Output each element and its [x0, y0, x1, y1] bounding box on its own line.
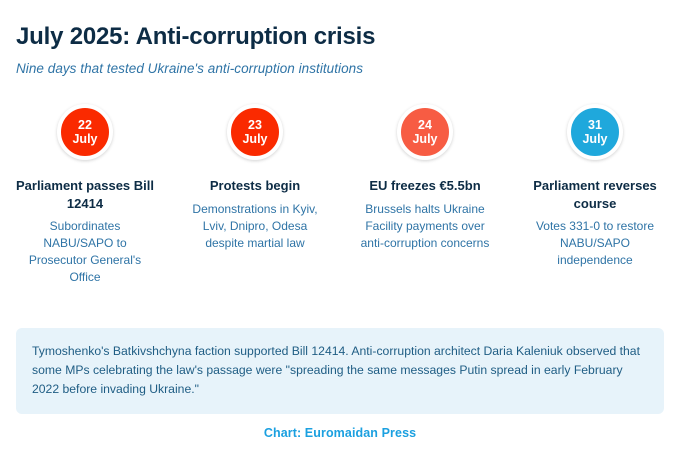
caption-title: Parliament passes Bill 12414 — [14, 177, 156, 211]
node-day: 24 — [418, 119, 432, 132]
timeline-caption-3: Parliament reverses course Votes 331-0 t… — [510, 177, 680, 285]
note-text: Tymoshenko's Batkivshchyna faction suppo… — [32, 342, 648, 399]
chart-header: July 2025: Anti-corruption crisis Nine d… — [0, 0, 680, 76]
caption-description: Subordinates NABU/SAPO to Prosecutor Gen… — [14, 218, 156, 286]
timeline-node-3[interactable]: 31 July — [510, 97, 680, 167]
node-month: July — [412, 132, 437, 146]
caption-description: Demonstrations in Kyiv, Lviv, Dnipro, Od… — [184, 201, 326, 252]
timeline-caption-2: EU freezes €5.5bn Brussels halts Ukraine… — [340, 177, 510, 285]
caption-title: Protests begin — [184, 177, 326, 194]
node-circle-31-july[interactable]: 31 July — [567, 104, 623, 160]
timeline-node-2[interactable]: 24 July — [340, 97, 510, 167]
timeline-caption-1: Protests begin Demonstrations in Kyiv, L… — [170, 177, 340, 285]
node-circle-23-july[interactable]: 23 July — [227, 104, 283, 160]
timeline: 22 July 23 July 24 July 31 July — [0, 97, 680, 167]
chart-credit: Chart: Euromaidan Press — [0, 426, 680, 440]
node-day: 22 — [78, 119, 92, 132]
note-box: Tymoshenko's Batkivshchyna faction suppo… — [16, 328, 664, 414]
node-month: July — [242, 132, 267, 146]
timeline-captions: Parliament passes Bill 12414 Subordinate… — [0, 177, 680, 285]
page-subtitle: Nine days that tested Ukraine's anti-cor… — [16, 61, 680, 76]
timeline-caption-0: Parliament passes Bill 12414 Subordinate… — [0, 177, 170, 285]
caption-description: Brussels halts Ukraine Facility payments… — [354, 201, 496, 252]
node-circle-22-july[interactable]: 22 July — [57, 104, 113, 160]
caption-description: Votes 331-0 to restore NABU/SAPO indepen… — [524, 218, 666, 269]
timeline-node-0[interactable]: 22 July — [0, 97, 170, 167]
node-circle-24-july[interactable]: 24 July — [397, 104, 453, 160]
node-month: July — [72, 132, 97, 146]
node-day: 31 — [588, 119, 602, 132]
node-month: July — [582, 132, 607, 146]
caption-title: Parliament reverses course — [524, 177, 666, 211]
caption-title: EU freezes €5.5bn — [354, 177, 496, 194]
node-day: 23 — [248, 119, 262, 132]
page-title: July 2025: Anti-corruption crisis — [16, 24, 680, 50]
timeline-nodes: 22 July 23 July 24 July 31 July — [0, 97, 680, 167]
timeline-node-1[interactable]: 23 July — [170, 97, 340, 167]
